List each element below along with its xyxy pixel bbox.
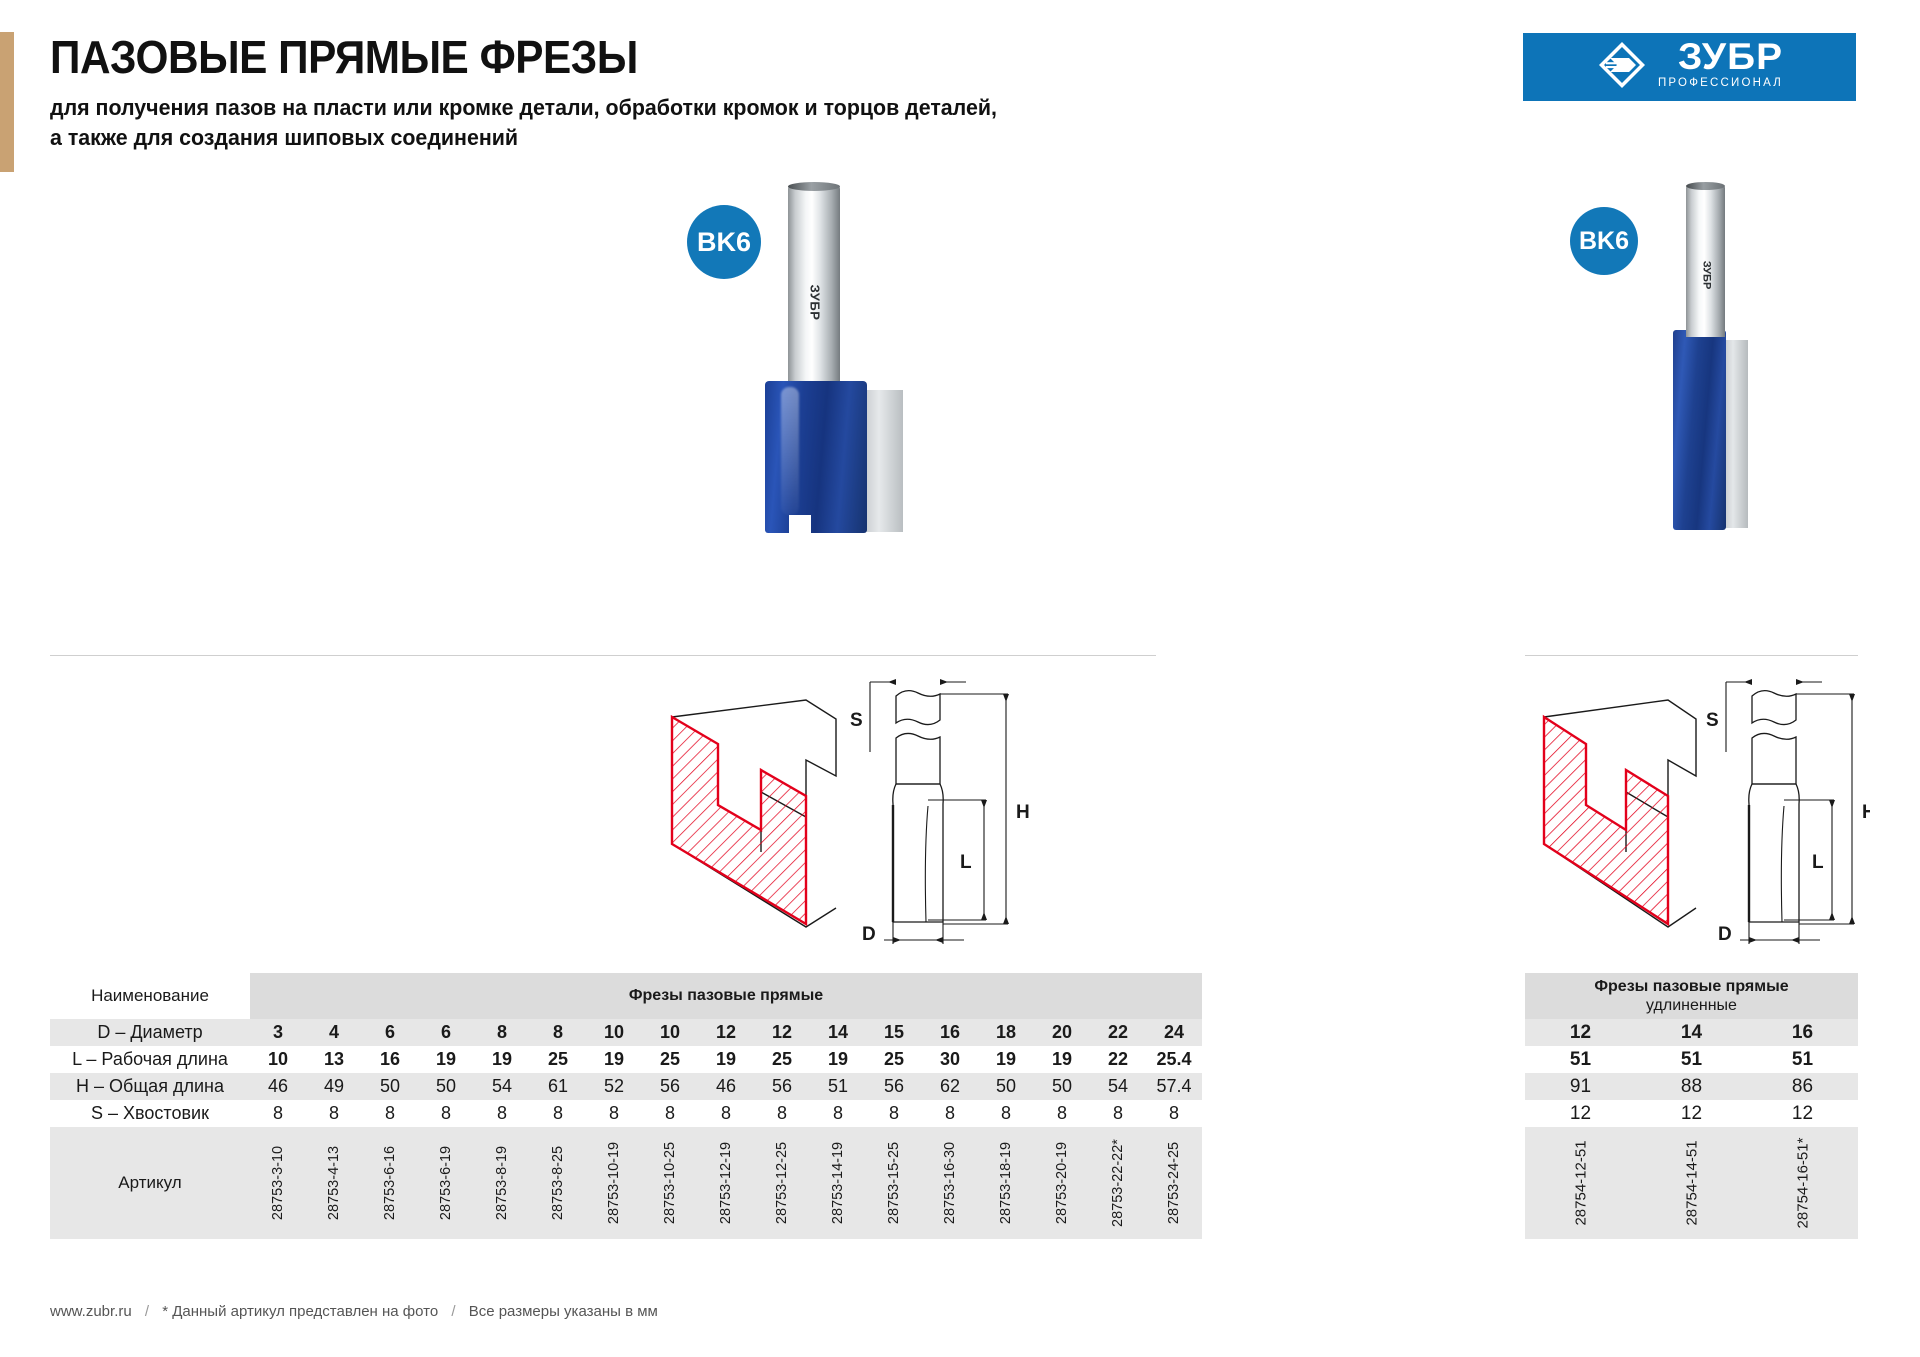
- table-row-shank: 121212: [1525, 1100, 1858, 1127]
- cutter-outline: [1749, 691, 1799, 922]
- logo-tagline: ПРОФЕССИОНАЛ: [1658, 76, 1783, 91]
- table-cell: 19: [698, 1046, 754, 1073]
- table-cell: 57.4: [1146, 1073, 1202, 1100]
- table-row-article: 28754-12-5128754-14-5128754-16-51*: [1525, 1127, 1858, 1239]
- table-cell: 8: [530, 1100, 586, 1127]
- table-cell-article: 28753-10-25: [642, 1127, 698, 1239]
- footer-note-units: Все размеры указаны в мм: [469, 1303, 658, 1320]
- table-cell: 8: [1146, 1100, 1202, 1127]
- article-number: 28754-16-51*: [1794, 1138, 1811, 1229]
- material-badge-right: BK6: [1570, 207, 1638, 275]
- footer-separator-1: /: [145, 1303, 149, 1320]
- divider-left: [50, 655, 1156, 656]
- footer: www.zubr.ru / * Данный артикул представл…: [50, 1303, 658, 1320]
- table-cell: 56: [642, 1073, 698, 1100]
- table-cell-article: 28753-14-19: [810, 1127, 866, 1239]
- logo-brand-text: ЗУБР: [1678, 39, 1783, 74]
- article-number: 28753-22-22*: [1110, 1139, 1126, 1227]
- article-number: 28753-16-30: [942, 1142, 958, 1224]
- table-cell: 8: [1034, 1100, 1090, 1127]
- table-cell: 6: [418, 1019, 474, 1046]
- table-cell: 91: [1525, 1073, 1636, 1100]
- table-cell: 16: [922, 1019, 978, 1046]
- footer-website[interactable]: www.zubr.ru: [50, 1303, 132, 1320]
- table-cell: 8: [810, 1100, 866, 1127]
- table-row-article: Артикул 28753-3-1028753-4-1328753-6-1628…: [50, 1127, 1202, 1239]
- table-cell: 88: [1636, 1073, 1747, 1100]
- table-row-shank: S – Хвостовик 88888888888888888: [50, 1100, 1202, 1127]
- table-cell: 50: [362, 1073, 418, 1100]
- table-row-diameter: D – Диаметр 3466881010121214151618202224: [50, 1019, 1202, 1046]
- page-title: ПАЗОВЫЕ ПРЯМЫЕ ФРЕЗЫ: [50, 34, 1108, 80]
- bit-brand-text: ЗУБР: [1700, 261, 1712, 290]
- table-row-group-header: Фрезы пазовые прямые удлиненные: [1525, 973, 1858, 1019]
- table-cell: 8: [418, 1100, 474, 1127]
- row-label-working-length: L – Рабочая длина: [50, 1046, 250, 1073]
- group-header-text: Фрезы пазовые прямые: [629, 987, 823, 1004]
- table-cell: 56: [754, 1073, 810, 1100]
- table-cell-article: 28754-16-51*: [1747, 1127, 1858, 1239]
- dim-label-L: L: [1812, 852, 1824, 873]
- brand-logo[interactable]: ЗУБР ПРОФЕССИОНАЛ: [1523, 33, 1856, 101]
- table-cell: 25.4: [1146, 1046, 1202, 1073]
- table-cell: 8: [530, 1019, 586, 1046]
- table-cell-article: 28754-14-51: [1636, 1127, 1747, 1239]
- article-number: 28754-12-51: [1572, 1140, 1589, 1225]
- table-cell: 54: [474, 1073, 530, 1100]
- table-cell: 19: [474, 1046, 530, 1073]
- page-subtitle: для получения пазов на пласти или кромке…: [50, 93, 1143, 153]
- row-label-name: Наименование: [50, 973, 250, 1019]
- table-cell: 46: [250, 1073, 306, 1100]
- cut-hatch: [1544, 717, 1668, 924]
- table-cell: 25: [530, 1046, 586, 1073]
- table-cell: 12: [754, 1019, 810, 1046]
- article-number: 28753-10-25: [662, 1142, 678, 1224]
- table-cell: 19: [418, 1046, 474, 1073]
- table-cell: 25: [866, 1046, 922, 1073]
- table-row-working-length: 515151: [1525, 1046, 1858, 1073]
- dim-label-S: S: [850, 710, 863, 731]
- table-cell: 50: [1034, 1073, 1090, 1100]
- technical-diagram-left: S H L D: [588, 672, 1048, 962]
- article-number: 28753-24-25: [1166, 1142, 1182, 1224]
- cutter-outline: [893, 691, 943, 922]
- article-number: 28754-14-51: [1683, 1140, 1700, 1225]
- table-cell: 50: [418, 1073, 474, 1100]
- table-cell: 51: [1636, 1046, 1747, 1073]
- table-cell-article: 28753-10-19: [586, 1127, 642, 1239]
- table-cell: 8: [922, 1100, 978, 1127]
- table-cell: 62: [922, 1073, 978, 1100]
- article-number: 28753-12-25: [774, 1142, 790, 1224]
- table-cell: 20: [1034, 1019, 1090, 1046]
- table-cell-article: 28753-8-25: [530, 1127, 586, 1239]
- dimension-arrows: [888, 679, 1009, 943]
- product-image-extended-bit: ЗУБР: [1655, 185, 1785, 540]
- table-cell: 4: [306, 1019, 362, 1046]
- dim-label-L: L: [960, 852, 972, 873]
- row-label-article: Артикул: [50, 1127, 250, 1239]
- table-cell: 8: [306, 1100, 362, 1127]
- table-cell: 13: [306, 1046, 362, 1073]
- dim-label-D: D: [1718, 924, 1732, 945]
- table-cell: 8: [866, 1100, 922, 1127]
- table-cell: 14: [1636, 1019, 1747, 1046]
- table-cell: 12: [698, 1019, 754, 1046]
- table-row-diameter: 121416: [1525, 1019, 1858, 1046]
- table-cell-article: 28754-12-51: [1525, 1127, 1636, 1239]
- table-cell-article: 28753-8-19: [474, 1127, 530, 1239]
- table-cell: 8: [362, 1100, 418, 1127]
- row-label-diameter: D – Диаметр: [50, 1019, 250, 1046]
- bit-shank-top: [788, 182, 840, 191]
- article-number: 28753-6-16: [382, 1146, 398, 1220]
- table-cell: 19: [810, 1046, 866, 1073]
- table-row-total-length: 918886: [1525, 1073, 1858, 1100]
- table-cell: 19: [1034, 1046, 1090, 1073]
- product-image-straight-bit: ЗУБР: [745, 185, 975, 540]
- table-cell-article: 28753-16-30: [922, 1127, 978, 1239]
- table-cell: 8: [474, 1100, 530, 1127]
- article-number: 28753-6-19: [438, 1146, 454, 1220]
- table-row-total-length: H – Общая длина 464950505461525646565156…: [50, 1073, 1202, 1100]
- article-number: 28753-3-10: [270, 1146, 286, 1220]
- article-number: 28753-8-19: [494, 1146, 510, 1220]
- table-cell: 8: [586, 1100, 642, 1127]
- divider-right: [1525, 655, 1858, 656]
- bit-brand-text: ЗУБР: [807, 284, 822, 320]
- technical-diagram-right: S H L D: [1520, 672, 1870, 962]
- table-cell: 8: [1090, 1100, 1146, 1127]
- table-cell-article: 28753-3-10: [250, 1127, 306, 1239]
- group-header-cell: Фрезы пазовые прямые: [250, 973, 1202, 1019]
- table-cell: 12: [1636, 1100, 1747, 1127]
- bit-cutting-body: [1673, 330, 1726, 530]
- article-number: 28753-15-25: [886, 1142, 902, 1224]
- table-cell: 12: [1525, 1100, 1636, 1127]
- table-cell: 16: [362, 1046, 418, 1073]
- table-cell: 12: [1747, 1100, 1858, 1127]
- table-cell: 25: [754, 1046, 810, 1073]
- table-cell: 19: [586, 1046, 642, 1073]
- dim-label-H: H: [1016, 802, 1030, 823]
- spec-table-standard: Наименование Фрезы пазовые прямые D – Ди…: [50, 973, 1202, 1239]
- table-cell: 54: [1090, 1073, 1146, 1100]
- accent-bar: [0, 32, 14, 172]
- table-cell: 16: [1747, 1019, 1858, 1046]
- table-cell: 51: [810, 1073, 866, 1100]
- table-cell: 14: [810, 1019, 866, 1046]
- table-cell: 61: [530, 1073, 586, 1100]
- table-cell: 30: [922, 1046, 978, 1073]
- group-header-text: Фрезы пазовые прямые: [1594, 978, 1788, 995]
- bit-brand-mark: ЗУБР: [1688, 235, 1724, 315]
- article-number: 28753-12-19: [718, 1142, 734, 1224]
- table-cell: 50: [978, 1073, 1034, 1100]
- bit-carbide-blade: [1723, 340, 1748, 528]
- dim-label-D: D: [862, 924, 876, 945]
- table-cell: 10: [642, 1019, 698, 1046]
- article-number: 28753-20-19: [1054, 1142, 1070, 1224]
- subtitle-line-2: а также для создания шиповых соединений: [50, 123, 1143, 153]
- table-cell-article: 28753-6-19: [418, 1127, 474, 1239]
- table-cell: 18: [978, 1019, 1034, 1046]
- article-number: 28753-4-13: [326, 1146, 342, 1220]
- article-number: 28753-18-19: [998, 1142, 1014, 1224]
- dimension-lines: [1726, 682, 1854, 944]
- table-cell: 52: [586, 1073, 642, 1100]
- table-row-working-length: L – Рабочая длина 1013161919251925192519…: [50, 1046, 1202, 1073]
- bit-body-notch: [789, 515, 811, 533]
- table-cell: 8: [474, 1019, 530, 1046]
- table-cell-article: 28753-12-19: [698, 1127, 754, 1239]
- table-cell: 22: [1090, 1046, 1146, 1073]
- table-cell-article: 28753-24-25: [1146, 1127, 1202, 1239]
- table-cell: 3: [250, 1019, 306, 1046]
- cut-hatch: [672, 717, 806, 924]
- row-label-total-length: H – Общая длина: [50, 1073, 250, 1100]
- footer-separator-2: /: [451, 1303, 455, 1320]
- bit-brand-mark: ЗУБР: [793, 257, 837, 347]
- table-cell-article: 28753-4-13: [306, 1127, 362, 1239]
- table-cell: 8: [754, 1100, 810, 1127]
- table-cell: 56: [866, 1073, 922, 1100]
- table-cell: 25: [642, 1046, 698, 1073]
- dim-label-H: H: [1862, 802, 1870, 823]
- zubr-arrow-diamond-icon: [1596, 39, 1648, 91]
- bit-shank-top: [1686, 182, 1725, 190]
- article-number: 28753-10-19: [606, 1142, 622, 1224]
- table-cell-article: 28753-20-19: [1034, 1127, 1090, 1239]
- article-number: 28753-8-25: [550, 1146, 566, 1220]
- bit-carbide-blade: [863, 390, 903, 532]
- group-header-cell: Фрезы пазовые прямые удлиненные: [1525, 973, 1858, 1019]
- article-number: 28753-14-19: [830, 1142, 846, 1224]
- table-cell: 6: [362, 1019, 418, 1046]
- table-cell: 8: [642, 1100, 698, 1127]
- table-cell: 46: [698, 1073, 754, 1100]
- table-cell: 22: [1090, 1019, 1146, 1046]
- spec-table: Фрезы пазовые прямые удлиненные 121416 5…: [1525, 973, 1858, 1239]
- table-cell-article: 28753-6-16: [362, 1127, 418, 1239]
- table-cell: 10: [586, 1019, 642, 1046]
- dim-label-S: S: [1706, 710, 1719, 731]
- subtitle-line-1: для получения пазов на пласти или кромке…: [50, 93, 1143, 123]
- table-cell: 49: [306, 1073, 362, 1100]
- table-cell: 15: [866, 1019, 922, 1046]
- header-block: ПАЗОВЫЕ ПРЯМЫЕ ФРЕЗЫ для получения пазов…: [50, 34, 1200, 153]
- group-header-subtext: удлиненные: [1525, 997, 1858, 1015]
- bit-cutting-body: [765, 381, 867, 533]
- table-cell: 8: [698, 1100, 754, 1127]
- table-cell: 8: [978, 1100, 1034, 1127]
- table-cell-article: 28753-12-25: [754, 1127, 810, 1239]
- row-label-shank: S – Хвостовик: [50, 1100, 250, 1127]
- table-cell: 10: [250, 1046, 306, 1073]
- table-cell: 51: [1525, 1046, 1636, 1073]
- table-cell: 51: [1747, 1046, 1858, 1073]
- footer-note-photo: * Данный артикул представлен на фото: [162, 1303, 438, 1320]
- table-cell-article: 28753-22-22*: [1090, 1127, 1146, 1239]
- table-cell: 86: [1747, 1073, 1858, 1100]
- table-cell-article: 28753-15-25: [866, 1127, 922, 1239]
- table-cell: 24: [1146, 1019, 1202, 1046]
- spec-table: Наименование Фрезы пазовые прямые D – Ди…: [50, 973, 1202, 1239]
- table-cell: 12: [1525, 1019, 1636, 1046]
- table-cell: 19: [978, 1046, 1034, 1073]
- table-cell: 8: [250, 1100, 306, 1127]
- datasheet-page: ПАЗОВЫЕ ПРЯМЫЕ ФРЕЗЫ для получения пазов…: [0, 0, 1920, 1357]
- table-row-group-header: Наименование Фрезы пазовые прямые: [50, 973, 1202, 1019]
- spec-table-extended: Фрезы пазовые прямые удлиненные 121416 5…: [1525, 973, 1858, 1239]
- table-cell-article: 28753-18-19: [978, 1127, 1034, 1239]
